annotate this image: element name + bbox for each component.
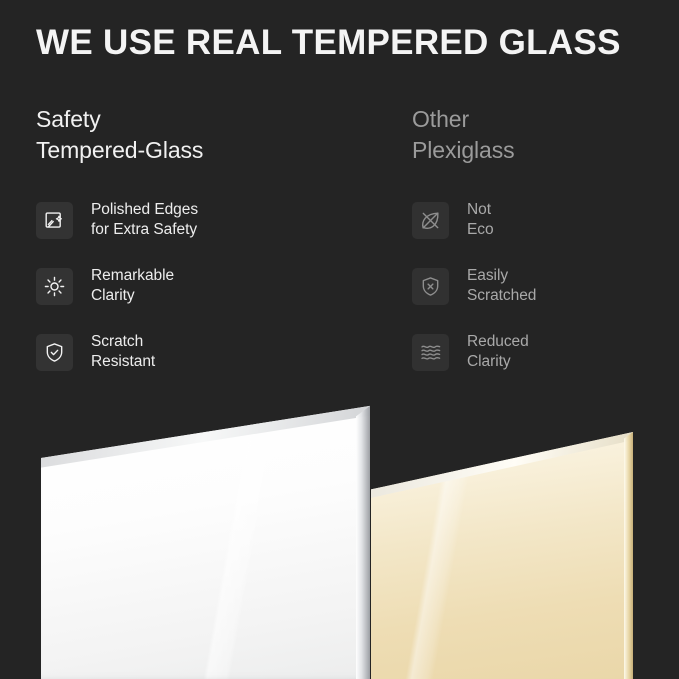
- feature-reduced-clarity: Reduced Clarity: [412, 328, 679, 376]
- glass-panel-side-edge: [356, 396, 370, 679]
- feature-label: Scratch Resistant: [91, 332, 155, 372]
- shield-check-icon: [36, 334, 73, 371]
- column-title-plexiglass: Other Plexiglass: [412, 104, 679, 166]
- feature-list-tempered-glass: Polished Edges for Extra Safety Remarkab…: [36, 196, 336, 376]
- feature-list-plexiglass: Not Eco Easily Scratched: [412, 196, 679, 376]
- plexiglass-panel-side-edge: [624, 396, 633, 679]
- column-plexiglass: Other Plexiglass Not Eco: [412, 104, 679, 394]
- polished-glass-pane-icon: [36, 202, 73, 239]
- feature-polished-edges: Polished Edges for Extra Safety: [36, 196, 336, 244]
- feature-label: Not Eco: [467, 200, 494, 240]
- feature-remarkable-clarity: Remarkable Clarity: [36, 262, 336, 310]
- comparison-columns: Safety Tempered-Glass Polished Edges for…: [0, 104, 679, 404]
- feature-label: Reduced Clarity: [467, 332, 529, 372]
- feature-label: Remarkable Clarity: [91, 266, 174, 306]
- tempered-glass-comparison-infographic: WE USE REAL TEMPERED GLASS Safety Temper…: [0, 0, 679, 679]
- feature-label: Polished Edges for Extra Safety: [91, 200, 198, 240]
- leaf-crossed-out-icon: [412, 202, 449, 239]
- shield-x-icon: [412, 268, 449, 305]
- feature-not-eco: Not Eco: [412, 196, 679, 244]
- yellowed-plexiglass-panel: [371, 396, 633, 679]
- wavy-lines-icon: [412, 334, 449, 371]
- column-tempered-glass: Safety Tempered-Glass Polished Edges for…: [36, 104, 336, 394]
- feature-label: Easily Scratched: [467, 266, 536, 306]
- page-title: WE USE REAL TEMPERED GLASS: [36, 22, 656, 64]
- sun-brightness-icon: [36, 268, 73, 305]
- feature-easily-scratched: Easily Scratched: [412, 262, 679, 310]
- column-title-tempered-glass: Safety Tempered-Glass: [36, 104, 336, 166]
- feature-scratch-resistant: Scratch Resistant: [36, 328, 336, 376]
- product-photo: [0, 396, 679, 679]
